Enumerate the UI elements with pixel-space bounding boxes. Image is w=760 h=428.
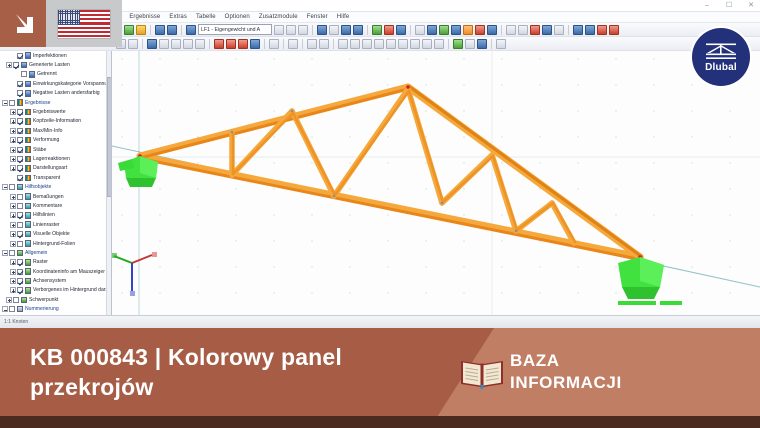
toolbar-button-gray-14[interactable] xyxy=(269,39,279,49)
flag-star xyxy=(73,21,74,22)
grid-dot xyxy=(273,84,274,85)
grid-dot xyxy=(387,266,388,267)
grid-dot xyxy=(501,162,502,163)
grid-dot xyxy=(387,188,388,189)
grid-dot xyxy=(349,136,350,137)
toolbar-button-blue-33[interactable] xyxy=(477,39,487,49)
grid-dot xyxy=(615,292,616,293)
toolbar-separator xyxy=(312,25,313,35)
grid-dot xyxy=(539,162,540,163)
tree-checkbox[interactable] xyxy=(17,194,23,200)
toolbar-button-blue-25[interactable] xyxy=(451,25,461,35)
tree-expander-plus-icon[interactable] xyxy=(10,194,16,200)
minimize-button[interactable]: – xyxy=(702,1,712,10)
grid-dot xyxy=(577,84,578,85)
tree-item[interactable]: Hintergrund-Folien xyxy=(0,239,111,248)
grid-dot xyxy=(425,136,426,137)
maximize-button[interactable]: ☐ xyxy=(724,1,734,10)
grid-dot xyxy=(349,162,350,163)
grid-dot xyxy=(273,292,274,293)
flag-star xyxy=(68,23,69,24)
tree-item[interactable]: Getrennt xyxy=(0,70,111,79)
tree-item[interactable]: Hilfsobjekte xyxy=(0,182,111,191)
dlubal-logo[interactable]: Dlubal xyxy=(692,28,750,86)
menu-item-fenster[interactable]: Fenster xyxy=(307,14,328,20)
tree-item-label: Schwerpunkt xyxy=(29,297,58,303)
grid-dot xyxy=(311,84,312,85)
grid-dot xyxy=(501,84,502,85)
tree-checkbox[interactable] xyxy=(17,128,23,134)
toolbar-separator xyxy=(302,39,303,49)
toolbar-button-gray-26[interactable] xyxy=(398,39,408,49)
grid-dot xyxy=(273,188,274,189)
tree-checkbox[interactable] xyxy=(13,297,19,303)
tree-checkbox[interactable] xyxy=(17,118,23,124)
tree-item[interactable]: Raster xyxy=(0,258,111,267)
tree-expander-minus-icon[interactable] xyxy=(2,184,8,190)
toolbar-button-blue-15[interactable] xyxy=(341,25,351,35)
grid-dot xyxy=(273,266,274,267)
tree-expander-plus-icon[interactable] xyxy=(10,203,16,209)
tree-item-green-icon xyxy=(25,278,32,285)
tree-item[interactable]: Imperfektionen xyxy=(0,51,111,60)
tree-item-label: Verborgenes im Hintergrund darst. xyxy=(33,287,111,293)
tree-checkbox[interactable] xyxy=(9,184,15,190)
tree-expander-plus-icon[interactable] xyxy=(10,259,16,265)
tree-expander-plus-icon[interactable] xyxy=(10,165,16,171)
tree-item-label: Verformung xyxy=(33,137,59,143)
tree-item-rainbow-icon xyxy=(25,175,32,182)
grid-dot xyxy=(577,188,578,189)
tree-item[interactable]: Einwirkungskategorie Vorspannung xyxy=(0,79,111,88)
tree-expander-empty xyxy=(10,90,16,96)
toolbar-button-blue-13[interactable] xyxy=(317,25,327,35)
tree-checkbox[interactable] xyxy=(13,62,19,68)
tree-item-label: Hilfsobjekte xyxy=(25,184,51,190)
toolbar-button-red-9[interactable] xyxy=(214,39,224,49)
model-viewport[interactable] xyxy=(112,51,760,315)
tree-checkbox[interactable] xyxy=(21,71,27,77)
grid-dot xyxy=(577,136,578,137)
tree-expander-empty xyxy=(14,71,20,77)
close-button[interactable]: ✕ xyxy=(746,1,756,10)
tree-item-label: Achsensystem xyxy=(33,278,66,284)
toolbar-button-red-27[interactable] xyxy=(475,25,485,35)
display-navigator-tree[interactable]: ImperfektionenGenerierte LastenGetrenntE… xyxy=(0,51,112,315)
grid-dot xyxy=(349,84,350,85)
grid-dot xyxy=(729,188,730,189)
tree-checkbox[interactable] xyxy=(17,241,23,247)
tree-item[interactable]: Kommentare xyxy=(0,201,111,210)
tree-checkbox[interactable] xyxy=(17,156,23,162)
flag-star xyxy=(71,18,72,19)
toolbar-button-gray-22[interactable] xyxy=(350,39,360,49)
grid-dot xyxy=(501,136,502,137)
banner-brand: BAZA INFORMACJI xyxy=(510,350,750,394)
grid-dot xyxy=(691,136,692,137)
tree-expander-plus-icon[interactable] xyxy=(10,278,16,284)
toolbar-button-blue-28[interactable] xyxy=(487,25,497,35)
tree-expander-plus-icon[interactable] xyxy=(10,241,16,247)
toolbar-button-gray-24[interactable] xyxy=(374,39,384,49)
tree-checkbox[interactable] xyxy=(17,90,23,96)
grid-dot xyxy=(539,292,540,293)
grid-dot xyxy=(349,266,350,267)
toolbar-button-red-11[interactable] xyxy=(238,39,248,49)
tree-item-label: Bemaßungen xyxy=(33,194,64,200)
grid-dot xyxy=(463,162,464,163)
support-left xyxy=(118,156,158,187)
grid-dot xyxy=(159,240,160,241)
tree-item[interactable]: Bemaßungen xyxy=(0,192,111,201)
tree-item[interactable]: Stäbe xyxy=(0,145,111,154)
flag-star xyxy=(78,21,79,22)
toolbar-separator xyxy=(181,25,182,35)
toolbar-button-blue-3[interactable] xyxy=(147,39,157,49)
toolbar-button-gray-21[interactable] xyxy=(338,39,348,49)
tree-expander-plus-icon[interactable] xyxy=(6,62,12,68)
tree-scrollbar[interactable] xyxy=(106,51,111,315)
toolbar-button-gray-5[interactable] xyxy=(171,39,181,49)
toolbar-button-blue-20[interactable] xyxy=(396,25,406,35)
tree-item-rainbow-icon xyxy=(25,137,32,144)
grid-dot xyxy=(653,136,654,137)
tree-item[interactable]: Ergebnisse xyxy=(0,98,111,107)
grid-dot xyxy=(311,162,312,163)
tree-item[interactable]: Linienraster xyxy=(0,220,111,229)
toolbar-button-blue-12[interactable] xyxy=(250,39,260,49)
tree-item[interactable]: Schwerpunkt xyxy=(0,295,111,304)
tree-item[interactable]: Koordinateninfo am Mauszeiger xyxy=(0,267,111,276)
tree-item[interactable]: Nummerierung xyxy=(0,305,111,314)
flag-canton xyxy=(58,10,80,25)
menu-item-extras[interactable]: Extras xyxy=(169,14,187,20)
toolbar-button-gray-14[interactable] xyxy=(329,25,339,35)
grid-dot xyxy=(387,84,388,85)
tree-item[interactable]: Negative Lasten andersfarbig xyxy=(0,89,111,98)
grid-dot xyxy=(463,110,464,111)
tree-item[interactable]: Allgemein xyxy=(0,248,111,257)
toolbar-button-gray-16[interactable] xyxy=(288,39,298,49)
grid-dot xyxy=(349,110,350,111)
tree-checkbox[interactable] xyxy=(17,212,23,218)
toolbar-separator xyxy=(491,39,492,49)
tree-item-teal-icon xyxy=(25,231,32,238)
grid-dot xyxy=(121,188,122,189)
toolbar-button-blue-23[interactable] xyxy=(427,25,437,35)
grid-dot xyxy=(463,188,464,189)
grid-dot xyxy=(463,266,464,267)
flag-star xyxy=(76,23,77,24)
toolbar-button-blue-33[interactable] xyxy=(542,25,552,35)
grid-dot xyxy=(501,58,502,59)
grid-dot xyxy=(159,188,160,189)
grid-dot xyxy=(159,266,160,267)
tree-checkbox[interactable] xyxy=(17,165,23,171)
tree-item[interactable]: Transparent xyxy=(0,173,111,182)
tree-checkbox[interactable] xyxy=(17,81,23,87)
toolbar-button-gray-6[interactable] xyxy=(183,39,193,49)
tree-item-rainbow-icon xyxy=(25,165,32,172)
toolbar-button-gray-23[interactable] xyxy=(362,39,372,49)
toolbar-button-gray-31[interactable] xyxy=(518,25,528,35)
toolbar-button-gray-4[interactable] xyxy=(159,39,169,49)
grid-dot xyxy=(691,266,692,267)
tree-expander-plus-icon[interactable] xyxy=(10,287,16,293)
tree-checkbox[interactable] xyxy=(17,203,23,209)
menu-item-ergebnisse[interactable]: Ergebnisse xyxy=(129,14,160,20)
toolbar-button-orange-26[interactable] xyxy=(463,25,473,35)
toolbar-separator xyxy=(150,25,151,35)
grid-dot xyxy=(691,188,692,189)
tree-checkbox[interactable] xyxy=(9,306,15,312)
menu-item-zusatzmodule[interactable]: Zusatzmodule xyxy=(259,14,298,20)
tree-item-teal-icon xyxy=(25,221,32,228)
tree-item-green-icon xyxy=(21,297,28,304)
toolbar-button-red-10[interactable] xyxy=(226,39,236,49)
toolbar-button-gray-34[interactable] xyxy=(554,25,564,35)
grid-dot xyxy=(463,214,464,215)
flag-star xyxy=(73,18,74,19)
grid-dot xyxy=(653,188,654,189)
tree-checkbox[interactable] xyxy=(17,231,23,237)
grid-dot xyxy=(349,188,350,189)
flag-usa-icon xyxy=(58,10,110,38)
toolbar-button-red-39[interactable] xyxy=(609,25,619,35)
toolbar-separator xyxy=(264,39,265,49)
tree-expander-plus-icon[interactable] xyxy=(10,109,16,115)
tree-item-label: Allgemein xyxy=(25,250,47,256)
grid-dot xyxy=(235,214,236,215)
bottom-banner: KB 000843 | Kolorowy panel przekrojów xyxy=(0,328,760,428)
toolbar-button-green-18[interactable] xyxy=(372,25,382,35)
grid-dot xyxy=(615,84,616,85)
tree-item-blue-icon xyxy=(29,71,36,78)
tree-checkbox[interactable] xyxy=(17,137,23,143)
tree-expander-plus-icon[interactable] xyxy=(10,156,16,162)
grid-dot xyxy=(311,266,312,267)
grid-dot xyxy=(387,240,388,241)
toolbar-button-gray-28[interactable] xyxy=(422,39,432,49)
tree-expander-plus-icon[interactable] xyxy=(10,147,16,153)
toolbar-button-gray-27[interactable] xyxy=(410,39,420,49)
tree-item[interactable]: Lagerreaktionen xyxy=(0,154,111,163)
grid-dot xyxy=(425,292,426,293)
grid-dot xyxy=(653,162,654,163)
arrow-down-right-icon xyxy=(14,12,36,36)
grid-dot xyxy=(235,136,236,137)
grid-dot xyxy=(653,240,654,241)
toolbar-button-red-19[interactable] xyxy=(384,25,394,35)
tree-checkbox[interactable] xyxy=(17,259,23,265)
tree-item[interactable]: Kopfzeile-Information xyxy=(0,117,111,126)
grid-dot xyxy=(615,58,616,59)
menu-item-hilfe[interactable]: Hilfe xyxy=(337,14,350,20)
grid-dot xyxy=(235,110,236,111)
grid-dot xyxy=(463,136,464,137)
toolbar-button-gray-1[interactable] xyxy=(128,39,138,49)
toolbar-separator xyxy=(448,39,449,49)
grid-dot xyxy=(387,136,388,137)
tree-item[interactable]: Generierte Lasten xyxy=(0,60,111,69)
toolbar-button-green-31[interactable] xyxy=(453,39,463,49)
tree-item-label: Negative Lasten andersfarbig xyxy=(33,90,100,96)
toolbar-button-gray-10[interactable] xyxy=(286,25,296,35)
menu-item-optionen[interactable]: Optionen xyxy=(225,14,250,20)
grid-dot xyxy=(691,214,692,215)
tree-item-label: Getrennt xyxy=(37,71,57,77)
grid-dot xyxy=(121,136,122,137)
cad-application-window: – ☐ ✕ ungErgebnisseExtrasTabelleOptionen… xyxy=(0,0,760,328)
toolbar-button-blue-4[interactable] xyxy=(155,25,165,35)
toolbar-button-gray-29[interactable] xyxy=(434,39,444,49)
grid-dot xyxy=(729,136,730,137)
toolbar-button-gray-32[interactable] xyxy=(465,39,475,49)
grid-dot xyxy=(615,214,616,215)
window-controls: – ☐ ✕ xyxy=(702,1,756,10)
grid-dot xyxy=(197,110,198,111)
toolbar-button-gray-11[interactable] xyxy=(298,25,308,35)
tree-expander-plus-icon[interactable] xyxy=(10,231,16,237)
tree-checkbox[interactable] xyxy=(17,222,23,228)
toolbar-separator xyxy=(367,25,368,35)
toolbar-button-blue-36[interactable] xyxy=(573,25,583,35)
flag-star xyxy=(59,23,60,24)
grid-dot xyxy=(235,58,236,59)
toolbar-button-red-32[interactable] xyxy=(530,25,540,35)
dlubal-logo-text: Dlubal xyxy=(705,62,737,73)
flag-star xyxy=(76,18,77,19)
grid-dot xyxy=(311,240,312,241)
grid-dot xyxy=(197,214,198,215)
grid-dot xyxy=(425,188,426,189)
toolbar-button-blue-16[interactable] xyxy=(353,25,363,35)
toolbar-button-gray-19[interactable] xyxy=(319,39,329,49)
truss-members xyxy=(140,87,642,260)
tree-expander-plus-icon[interactable] xyxy=(10,222,16,228)
grid-dot xyxy=(311,292,312,293)
banner-brand-line2: INFORMACJI xyxy=(510,372,750,394)
tree-item[interactable]: Verformung xyxy=(0,136,111,145)
toolbar-button-blue-7[interactable] xyxy=(186,25,196,35)
toolbar-button-gray-9[interactable] xyxy=(274,25,284,35)
tree-item-green-icon xyxy=(25,287,32,294)
coordinate-axis-tripod xyxy=(112,252,157,296)
toolbar-button-gray-18[interactable] xyxy=(307,39,317,49)
tree-expander-minus-icon[interactable] xyxy=(2,100,8,106)
tree-item[interactable]: Ergebniswerte xyxy=(0,107,111,116)
tree-checkbox[interactable] xyxy=(17,269,23,275)
menu-item-tabelle[interactable]: Tabelle xyxy=(196,14,216,20)
toolbar-button-gray-7[interactable] xyxy=(195,39,205,49)
tree-item[interactable]: Verborgenes im Hintergrund darst. xyxy=(0,286,111,295)
tree-checkbox[interactable] xyxy=(17,175,23,181)
grid-dot xyxy=(349,214,350,215)
grid-dot xyxy=(501,240,502,241)
tree-item-label: Lagerreaktionen xyxy=(33,156,70,162)
tree-item[interactable]: Visuelle Objekte xyxy=(0,229,111,238)
grid-dot xyxy=(197,240,198,241)
toolbar-button-gray-30[interactable] xyxy=(506,25,516,35)
tree-item-label: Imperfektionen xyxy=(33,53,67,59)
tree-checkbox[interactable] xyxy=(17,53,23,59)
tree-item[interactable]: Darstellungsart xyxy=(0,164,111,173)
tree-item-label: Raster xyxy=(33,259,48,265)
grid-dot xyxy=(387,292,388,293)
tree-expander-plus-icon[interactable] xyxy=(10,269,16,275)
grid-dot xyxy=(729,110,730,111)
banner-title-line1: KB 000843 | Kolorowy panel xyxy=(30,342,430,372)
toolbar-button-gray-35[interactable] xyxy=(496,39,506,49)
tree-expander-plus-icon[interactable] xyxy=(10,118,16,124)
tree-checkbox[interactable] xyxy=(17,147,23,153)
flag-star xyxy=(73,23,74,24)
toolbar-button-green-1[interactable] xyxy=(124,25,134,35)
grid-dot xyxy=(539,188,540,189)
grid-dot xyxy=(197,58,198,59)
toolbar-button-green-24[interactable] xyxy=(439,25,449,35)
tree-checkbox[interactable] xyxy=(17,109,23,115)
tree-checkbox[interactable] xyxy=(17,278,23,284)
toolbar-button-red-38[interactable] xyxy=(597,25,607,35)
flag-star xyxy=(66,23,67,24)
tree-expander-minus-icon[interactable] xyxy=(2,250,8,256)
grid-dot xyxy=(539,266,540,267)
tree-item-label: Nummerierung xyxy=(25,306,59,312)
grid-dot xyxy=(539,58,540,59)
flag-star xyxy=(78,18,79,19)
grid-dot xyxy=(349,292,350,293)
grid-dot xyxy=(121,292,122,293)
toolbar-button-yellow-2[interactable] xyxy=(136,25,146,35)
load-case-select[interactable]: LF1 - Eigengewicht und A xyxy=(198,24,272,35)
tree-item-label: Kommentare xyxy=(33,203,62,209)
screenshot-root: – ☐ ✕ ungErgebnisseExtrasTabelleOptionen… xyxy=(0,0,760,428)
toolbar-button-blue-5[interactable] xyxy=(167,25,177,35)
tree-item-blue-icon xyxy=(21,62,28,69)
tree-item[interactable]: Max/Min-Info xyxy=(0,126,111,135)
flag-star xyxy=(63,18,64,19)
tree-expander-minus-icon[interactable] xyxy=(2,306,8,312)
tree-expander-plus-icon[interactable] xyxy=(6,297,12,303)
grid-dot xyxy=(273,214,274,215)
tree-expander-plus-icon[interactable] xyxy=(10,128,16,134)
banner-footer-strip xyxy=(0,416,760,428)
tree-item[interactable]: Hilfslinien xyxy=(0,211,111,220)
grid-dot xyxy=(691,110,692,111)
toolbar-button-gray-22[interactable] xyxy=(415,25,425,35)
grid-dot xyxy=(729,292,730,293)
tree-checkbox[interactable] xyxy=(17,287,23,293)
tree-expander-plus-icon[interactable] xyxy=(10,137,16,143)
support-right xyxy=(618,257,682,305)
grid-dot xyxy=(577,110,578,111)
tree-checkbox[interactable] xyxy=(9,250,15,256)
tree-item-label: Kopfzeile-Information xyxy=(33,118,81,124)
grid-dot xyxy=(539,136,540,137)
grid-dot xyxy=(311,214,312,215)
tree-expander-plus-icon[interactable] xyxy=(10,212,16,218)
flag-star xyxy=(63,23,64,24)
grid-dot xyxy=(273,162,274,163)
tree-item-rainbow-icon xyxy=(17,99,24,106)
toolbar-button-blue-37[interactable] xyxy=(585,25,595,35)
tree-checkbox[interactable] xyxy=(9,100,15,106)
tree-item[interactable]: Achsensystem xyxy=(0,276,111,285)
tree-item-label: Stäbe xyxy=(33,147,46,153)
toolbar-button-gray-25[interactable] xyxy=(386,39,396,49)
flag-star xyxy=(59,18,60,19)
